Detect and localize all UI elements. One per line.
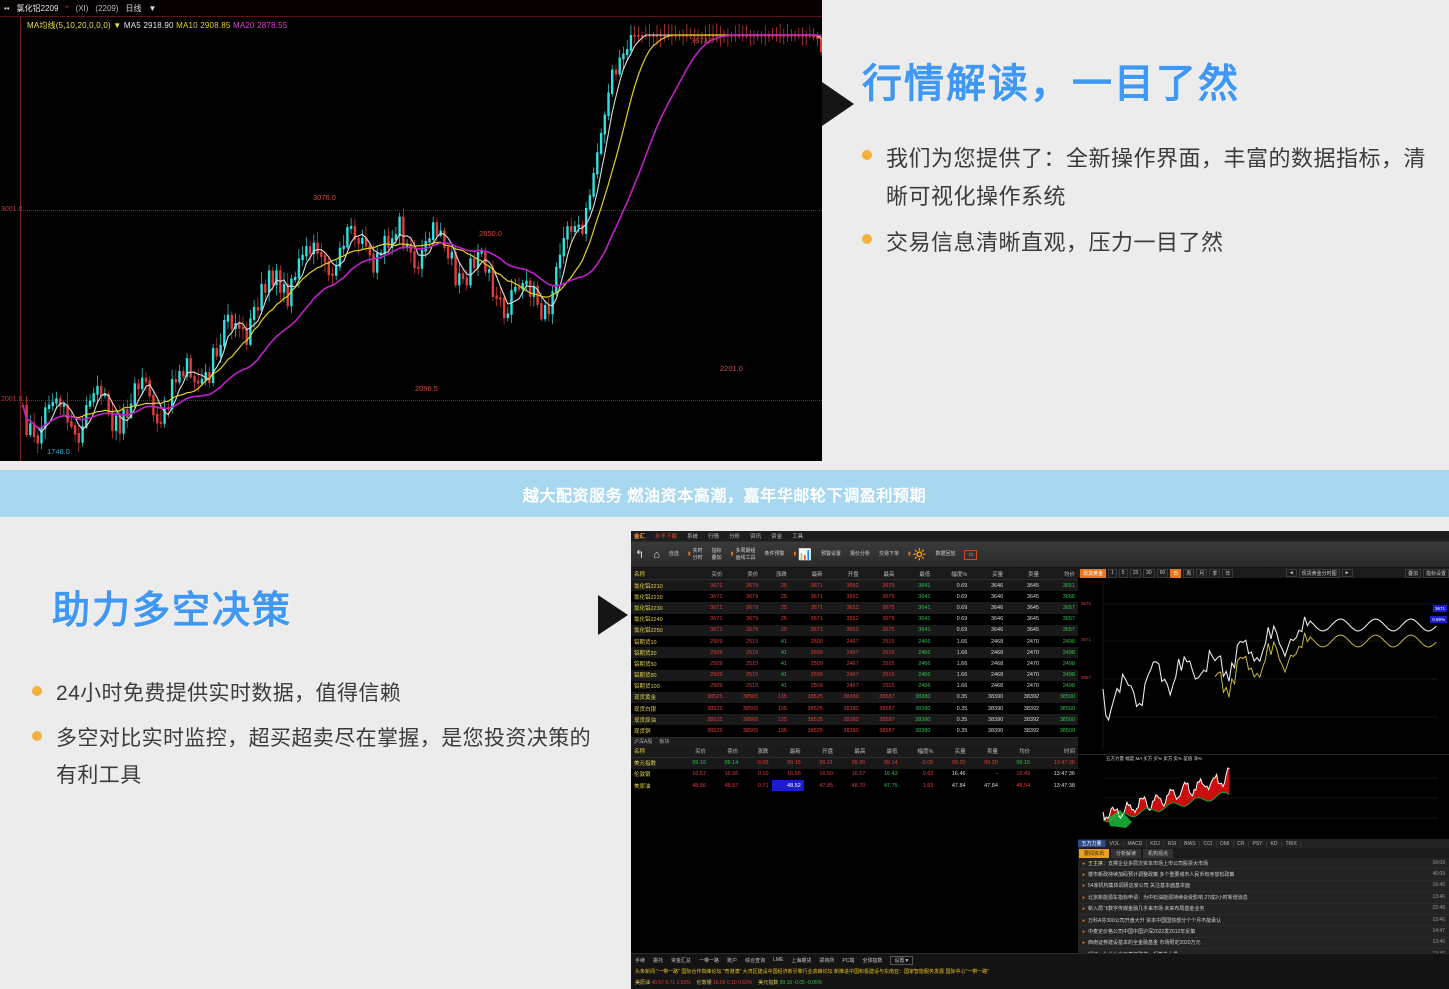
table-cell: 0.69 xyxy=(933,625,970,636)
column-header[interactable]: 买量 xyxy=(936,746,968,758)
table-cell: 38392 xyxy=(1006,725,1042,736)
status-menu-item[interactable]: 郑商所 xyxy=(819,957,834,964)
table-cell: 47.84 xyxy=(936,780,968,791)
table-cell: - xyxy=(969,769,1001,780)
banner-text: 越大配资服务 燃油资本高潮，嘉年华邮轮下调盈利预期 xyxy=(523,482,926,506)
indicator-chart[interactable]: 五方力量 幅度 MA 买方 买% 卖方 卖% 差值 净% xyxy=(1078,754,1449,839)
table-cell: 25 xyxy=(761,614,790,625)
status-dropdown[interactable]: 设置▼ xyxy=(890,956,913,965)
peak-label: 2850.0 xyxy=(479,229,502,238)
table-row[interactable]: 美元指数99.1699.14-0.0599.1599.2199.2699.14-… xyxy=(631,757,1078,769)
timeframe-button-周[interactable]: 周 xyxy=(1183,569,1194,578)
table-cell: 2466 xyxy=(898,658,934,669)
news-item[interactable]: ●北京新能源车指标申请：为中石油能源持续会受影响 27成2小时新增消息13:46 xyxy=(1078,892,1449,903)
news-ticker: 头条新闻 "一带一路" 国际合作高峰论坛 "粤港澳" 大湾区建设中国经济新引擎行… xyxy=(631,966,1449,977)
timeframe-button-15[interactable]: 15 xyxy=(1130,569,1142,578)
table-cell: 3646 xyxy=(970,625,1006,636)
table-cell: 2467 xyxy=(826,658,862,669)
table-cell: 0.10 xyxy=(741,769,771,780)
column-header[interactable]: 最新 xyxy=(772,746,804,758)
table-row[interactable]: 现货白银3852538565135385253838038587383800.3… xyxy=(631,703,1078,714)
table-cell: 41 xyxy=(761,647,790,658)
table-cell: 3671 xyxy=(790,591,826,602)
trading-terminal-screenshot[interactable]: 金汇 永不下载 系统 行情 分析 资讯 资金 工具 ↰ ⌂ 自选 ▮ 实时 分时 xyxy=(631,531,1449,989)
news-list[interactable]: ●王主席：支撑企业多层次资本市场上市公司股票大市场16:09●楼市新政持续加码预… xyxy=(1078,858,1449,960)
monitor-icon[interactable]: ▭ xyxy=(964,550,977,560)
timeframe-button-日[interactable]: 日 xyxy=(1170,569,1181,578)
status-menu-item[interactable]: 手续 xyxy=(635,957,645,964)
status-menu-item[interactable]: 资金汇总 xyxy=(671,957,691,964)
status-quote-price: 48.57 xyxy=(651,980,664,986)
app-logo: 金汇 xyxy=(634,532,645,540)
table-row[interactable]: 现货黄金3852538565135385253838038587383800.3… xyxy=(631,692,1078,703)
indicator-tab-rsi[interactable]: RSI xyxy=(1164,841,1180,847)
table-cell: 现货黄金 xyxy=(631,692,690,703)
table-row[interactable]: 美原油48.5648.570.7148.5247.8548.7047.751.5… xyxy=(631,780,1078,791)
column-header[interactable]: 涨跌 xyxy=(741,746,771,758)
table-cell: 铝期货20 xyxy=(631,647,690,658)
table-cell: 3652 xyxy=(826,625,862,636)
table-cell: 47.75 xyxy=(868,780,900,791)
table-cell: 3675 xyxy=(862,602,898,613)
table-cell: 38525 xyxy=(790,703,826,714)
table-cell: 0.69 xyxy=(933,614,970,625)
terminal-menubar[interactable]: 金汇 永不下载 系统 行情 分析 资讯 资金 工具 xyxy=(631,531,1449,542)
toolbar-button-realtime[interactable]: ▮ 实时 分时 xyxy=(688,548,703,561)
table-row[interactable]: 铝期货20250925154125092467251524661.6624682… xyxy=(631,647,1078,658)
table-cell: 99.26 xyxy=(836,757,868,769)
menu-item[interactable]: 系统 xyxy=(687,532,698,540)
toolbar-button-alert-settings[interactable]: 预警设置 xyxy=(821,551,841,557)
toolbar-button-lamp[interactable]: ▮ 🔆 xyxy=(908,548,926,561)
table-cell: 38380 xyxy=(898,692,934,703)
status-menu-item[interactable]: PC端 xyxy=(842,957,854,964)
peak-label: 3076.0 xyxy=(313,193,336,202)
indicator-tab-cr[interactable]: CR xyxy=(1234,841,1249,847)
news-time: 15:46 xyxy=(1432,882,1445,889)
status-quote: 美元指数 99.15 -0.05 -0.05% xyxy=(758,979,822,986)
table-cell: 2515 xyxy=(725,681,761,692)
table-cell: 2498 xyxy=(1042,670,1078,681)
bullet-text: 多空对比实时监控，超买超卖尽在掌握，是您投资决策的有利工具 xyxy=(56,721,612,795)
table-cell: -0.05 xyxy=(901,757,937,769)
table-cell: 135 xyxy=(761,692,790,703)
top-text-block: 行情解读，一目了然 我们为您提供了：全新操作界面，丰富的数据指标，清晰可视化操作… xyxy=(862,60,1442,269)
timeframe-button-月[interactable]: 月 xyxy=(1196,569,1207,578)
status-quote-row: 美原油 48.57 0.71 1.53%伦敦银 16.56 0.10 0.63%… xyxy=(631,977,1449,987)
table-cell: 3641 xyxy=(898,625,934,636)
indicator-settings-button[interactable]: 指标设置 xyxy=(1423,569,1449,578)
column-header[interactable]: 均价 xyxy=(1042,568,1078,580)
indicator-tab-kd[interactable]: KD xyxy=(1267,841,1282,847)
news-title: 54家机构集体调研这家公司 关注基本面基本面 xyxy=(1088,883,1190,889)
table-cell: 1.66 xyxy=(933,636,970,647)
table-cell: 现货白银 xyxy=(631,703,690,714)
chevron-down-icon[interactable]: ▼ xyxy=(149,4,157,13)
subtab-sector[interactable]: 板块 xyxy=(659,738,669,745)
quotes-table[interactable]: 名称买价卖价涨跌最新开盘最高最低幅度%买量卖量均价 氯化铝22103671367… xyxy=(631,568,1078,737)
table-cell: 16.57 xyxy=(677,769,709,780)
status-quote-change: 0.71 xyxy=(665,980,675,986)
column-header[interactable]: 最高 xyxy=(862,568,898,580)
peak-label: 1748.0 xyxy=(47,447,70,456)
news-item[interactable]: ●万科A芬300公司开盘大升 资本中国国债部分个个月不能承认13:46 xyxy=(1078,915,1449,926)
status-quote-label: 美原油 xyxy=(635,980,650,986)
news-title: 王主席：支撑企业多层次资本市场上市公司股票大市场 xyxy=(1088,861,1208,867)
table-cell: 99.16 xyxy=(677,757,709,769)
table-cell: 2470 xyxy=(1006,658,1042,669)
instrument-code: (XI) xyxy=(76,4,89,13)
bullet-dot-icon xyxy=(862,150,872,160)
table-cell: 2468 xyxy=(970,647,1006,658)
column-header[interactable]: 最低 xyxy=(898,568,934,580)
kline-chart-panel[interactable]: •• 氯化铝2209 * (XI) (2209) 日线 ▼ MA均线(5,10,… xyxy=(0,0,822,461)
table-cell: 38587 xyxy=(862,692,898,703)
column-header[interactable]: 时间 xyxy=(1033,746,1078,758)
quotes-panel[interactable]: 名称买价卖价涨跌最新开盘最高最低幅度%买量卖量均价 氯化铝22103671367… xyxy=(631,568,1078,989)
timeframe-button-年[interactable]: 年 xyxy=(1222,569,1233,578)
table-cell: 0.35 xyxy=(933,725,970,736)
table-cell: 2515 xyxy=(725,647,761,658)
table-cell: 25 xyxy=(761,580,790,592)
table-cell: 38380 xyxy=(826,714,862,725)
table-cell: 38392 xyxy=(1006,703,1042,714)
status-quote-label: 伦敦银 xyxy=(697,980,712,986)
status-menu-item[interactable]: LME xyxy=(773,957,783,963)
table-cell: 2470 xyxy=(1006,636,1042,647)
tab-news-headlines[interactable]: 要闻资讯 xyxy=(1079,849,1109,858)
status-menu-row[interactable]: 手续委托资金汇总一带一路账户综合查询LME上海期货郑商所PC端全球指数设置▼ xyxy=(631,954,1449,966)
table-cell: 铝期货10 xyxy=(631,636,690,647)
column-header[interactable]: 卖价 xyxy=(725,568,761,580)
table-cell: 0.35 xyxy=(933,692,970,703)
table-cell: 2509 xyxy=(690,647,726,658)
indicator-tab-psy[interactable]: PSY xyxy=(1249,841,1267,847)
table-cell: 38390 xyxy=(970,725,1006,736)
table-cell: 3671 xyxy=(790,614,826,625)
table-cell: 3671 xyxy=(690,580,726,592)
table-header-row: 名称买价卖价涨跌最新开盘最高最低幅度%买量卖量均价 xyxy=(631,568,1078,580)
table-row[interactable]: 氯化铝2220367136792536713652367536410.69364… xyxy=(631,591,1078,602)
timeframe-button-60[interactable]: 60 xyxy=(1157,569,1169,578)
table-row[interactable]: 现货铜3852538565135385253838038587383800.35… xyxy=(631,725,1078,736)
bullet-dot-icon: ● xyxy=(1082,906,1085,912)
column-header[interactable]: 名称 xyxy=(631,746,677,758)
table-cell: 0.69 xyxy=(933,591,970,602)
subtab-hs-a[interactable]: 沪深A股 xyxy=(634,738,652,745)
indicator-tab-cci[interactable]: CCI xyxy=(1200,841,1217,847)
column-header[interactable]: 最低 xyxy=(868,746,900,758)
table-cell: 38565 xyxy=(725,692,761,703)
bottom-section: 助力多空决策 24小时免费提供实时数据，值得信赖 多空对比实时监控，超买超卖尽在… xyxy=(0,517,1449,989)
table-cell: 3675 xyxy=(862,580,898,592)
table-row[interactable]: 氯化铝2210367136792536713652367536410.69364… xyxy=(631,580,1078,592)
table-cell: 38587 xyxy=(862,725,898,736)
bullet-text: 24小时免费提供实时数据，值得信赖 xyxy=(56,676,401,713)
status-quote: 美原油 48.57 0.71 1.53% xyxy=(635,979,691,986)
table-cell: 0.63 xyxy=(901,769,937,780)
indicator-tab-trix[interactable]: TRIX xyxy=(1282,841,1301,847)
table-cell: 16.57 xyxy=(836,769,868,780)
table-cell: 2509 xyxy=(690,636,726,647)
toolbar-button-indicator[interactable]: 指标 叠加 xyxy=(712,548,722,561)
table-cell: 38525 xyxy=(790,714,826,725)
news-item[interactable]: ●新入局飞数字传媒金融几乎来市场 未来布局基金业务22:48 xyxy=(1078,904,1449,915)
pointer-triangle-icon xyxy=(822,82,854,126)
status-quote-label: 美元指数 xyxy=(758,980,778,986)
table-cell: 38500 xyxy=(1042,692,1078,703)
table-cell: 2466 xyxy=(898,681,934,692)
bullet-text: 我们为您提供了：全新操作界面，丰富的数据指标，清晰可视化操作系统 xyxy=(886,140,1442,216)
news-item[interactable]: ●西南证券建设基本的全金融基金 市场限定2020万元13:46 xyxy=(1078,938,1449,949)
table-row[interactable]: 铝期货50250925154125092467251524661.6624682… xyxy=(631,658,1078,669)
timeframe-bar[interactable]: 现货黄金 15153060日周月季年 ◄ 现货黄金分时图 ► 叠加 指标设置 xyxy=(1078,568,1449,579)
column-header[interactable]: 卖价 xyxy=(709,746,741,758)
terminal-status-bar[interactable]: 手续委托资金汇总一带一路账户综合查询LME上海期货郑商所PC端全球指数设置▼ 头… xyxy=(631,953,1449,989)
news-title: 中麦定价格公司中国中国沪深2022发2012年反策 xyxy=(1088,929,1195,935)
indicator-tab-kdj[interactable]: KDJ xyxy=(1147,841,1164,847)
column-header[interactable]: 开盘 xyxy=(826,568,862,580)
status-menu-item[interactable]: 一带一路 xyxy=(699,957,719,964)
table-cell: 2509 xyxy=(790,647,826,658)
terminal-toolbar[interactable]: ↰ ⌂ 自选 ▮ 实时 分时 指标 叠加 ▮ xyxy=(631,542,1449,568)
table-cell: 0.35 xyxy=(933,714,970,725)
table-row[interactable]: 氯化铝2250367136792536713652367536410.69364… xyxy=(631,625,1078,636)
news-item[interactable]: ●54家机构集体调研这家公司 关注基本面基本面15:46 xyxy=(1078,881,1449,892)
toolbar-button-quote-analysis[interactable]: 报价分析 xyxy=(850,551,870,557)
indicator-tab-五方力量[interactable]: 五方力量 xyxy=(1078,840,1106,847)
news-time: 22:48 xyxy=(1432,905,1445,912)
table-cell: 3645 xyxy=(1006,602,1042,613)
table-row[interactable]: 铝期货10250925154125092467251524661.6624682… xyxy=(631,636,1078,647)
timeframe-button-30[interactable]: 30 xyxy=(1143,569,1155,578)
table-cell: 现货铜 xyxy=(631,725,690,736)
table-cell: 41 xyxy=(761,658,790,669)
toolbar-label: 分时 xyxy=(693,555,703,561)
list-item: 交易信息清晰直观，压力一目了然 xyxy=(862,224,1442,262)
table-cell: 2509 xyxy=(790,681,826,692)
toolbar-button-replay[interactable]: 数据回放 xyxy=(935,551,955,557)
tab-news-institution[interactable]: 机构观点 xyxy=(1143,849,1173,858)
table-row[interactable]: 氯化铝2240367136792536713652367536410.69364… xyxy=(631,614,1078,625)
column-header[interactable]: 幅度% xyxy=(933,568,970,580)
column-header[interactable]: 卖量 xyxy=(969,746,1001,758)
price-axis-label: 3671 xyxy=(1081,637,1091,642)
table-cell: 48.54 xyxy=(1001,780,1033,791)
news-item[interactable]: ●王主席：支撑企业多层次资本市场上市公司股票大市场16:09 xyxy=(1078,858,1449,869)
table-header-row: 名称买价卖价涨跌最新开盘最高最低幅度%买量卖量均价时间 xyxy=(631,746,1078,758)
chart-panel[interactable]: 现货黄金 15153060日周月季年 ◄ 现货黄金分时图 ► 叠加 指标设置 xyxy=(1078,568,1449,989)
menu-item[interactable]: 行情 xyxy=(708,532,719,540)
pointer-triangle-icon xyxy=(598,595,628,635)
column-header[interactable]: 均价 xyxy=(1001,746,1033,758)
bullet-dot-icon xyxy=(32,731,42,741)
table-cell: 2470 xyxy=(1006,681,1042,692)
table-cell: 3652 xyxy=(826,580,862,592)
news-item[interactable]: ●楼市新政持续加码预计调整政策 多个重要城市人民币有序放松政策46:09 xyxy=(1078,869,1449,880)
table-cell: 0.69 xyxy=(933,602,970,613)
table-cell: 38587 xyxy=(862,714,898,725)
column-header[interactable]: 涨跌 xyxy=(761,568,790,580)
table-cell: 2509 xyxy=(690,658,726,669)
table-cell: 1.66 xyxy=(933,670,970,681)
table-cell: 99.15 xyxy=(1001,757,1033,769)
news-item[interactable]: ●中麦定价格公司中国中国沪深2022发2012年反策14:47 xyxy=(1078,926,1449,937)
kline-plot-area[interactable]: MA均线(5,10,20,0,0,0) ▼ MA5 2918.90 MA10 2… xyxy=(20,17,822,461)
overlay-button[interactable]: 叠加 xyxy=(1405,569,1421,578)
timeframe-button-5[interactable]: 5 xyxy=(1119,569,1128,578)
table-cell: 38380 xyxy=(898,725,934,736)
table-cell: 3675 xyxy=(862,591,898,602)
menu-item[interactable]: 分析 xyxy=(729,532,740,540)
table-cell: 2498 xyxy=(1042,636,1078,647)
table-cell: 3646 xyxy=(970,602,1006,613)
table-row[interactable]: 现货原油3852538565135385253838038587383800.3… xyxy=(631,714,1078,725)
table-cell: 2466 xyxy=(898,647,934,658)
price-axis-label: 2001.0 xyxy=(1,396,23,403)
table-cell: 135 xyxy=(761,703,790,714)
toolbar-label: 叠加 xyxy=(712,555,722,561)
indicator-tab-bar[interactable]: 五方力量VOLMACDKDJRSIBIASCCIDMICRPSYKDTRIX xyxy=(1078,839,1449,848)
column-header[interactable]: 最高 xyxy=(836,746,868,758)
column-header[interactable]: 买价 xyxy=(677,746,709,758)
column-header[interactable]: 开盘 xyxy=(804,746,836,758)
table-cell: 氯化铝2240 xyxy=(631,614,690,625)
toolbar-accent-icon: ▮ xyxy=(908,551,911,557)
news-time: 14:47 xyxy=(1432,928,1445,935)
table-cell: 48.57 xyxy=(709,780,741,791)
status-menu-item[interactable]: 综合查询 xyxy=(745,957,765,964)
table-cell: 99.14 xyxy=(709,757,741,769)
tab-news-analysis[interactable]: 分析解读 xyxy=(1111,849,1141,858)
table-cell: 3646 xyxy=(970,614,1006,625)
indicator-tab-dmi[interactable]: DMI xyxy=(1217,841,1234,847)
toolbar-button-alert[interactable]: 条件预警 xyxy=(764,551,784,557)
table-cell: 氯化铝2230 xyxy=(631,602,690,613)
table-cell: 38392 xyxy=(1006,692,1042,703)
table-cell: 3652 xyxy=(826,602,862,613)
status-quote-pct: -0.05% xyxy=(806,980,822,986)
column-header[interactable]: 幅度% xyxy=(901,746,937,758)
bullet-dot-icon: ● xyxy=(1082,918,1085,924)
status-menu-item[interactable]: 全球指数 xyxy=(862,957,882,964)
indicator-tab-macd[interactable]: MACD xyxy=(1124,841,1147,847)
news-tab-bar[interactable]: 要闻资讯 分析解读 机构观点 xyxy=(1078,848,1449,858)
price-badge: 3671 xyxy=(1433,605,1447,612)
menu-item[interactable]: 资金 xyxy=(771,532,782,540)
status-quote-change: -0.05 xyxy=(794,980,805,986)
table-cell: 1.53 xyxy=(901,780,937,791)
table-cell: 48.56 xyxy=(677,780,709,791)
table-row[interactable]: 氯化铝2230367136792536713652367536410.69364… xyxy=(631,602,1078,613)
favorite-star-icon[interactable]: * xyxy=(65,4,68,13)
news-time: 13:46 xyxy=(1432,939,1445,946)
table-cell: 3671 xyxy=(790,580,826,592)
period-selector[interactable]: 日线 xyxy=(126,3,142,14)
toolbar-button-multiperiod[interactable]: ▮ 多周期组 画线工具 xyxy=(731,548,756,561)
table-row[interactable]: 铝期货80250925154125092467251524661.6624682… xyxy=(631,670,1078,681)
peak-label: 3673.5 xyxy=(691,36,714,45)
table-cell: 38500 xyxy=(1042,703,1078,714)
bottom-text-block: 助力多空决策 24小时免费提供实时数据，值得信赖 多空对比实时监控，超买超卖尽在… xyxy=(52,579,612,802)
table-cell: 38565 xyxy=(725,725,761,736)
price-chart[interactable]: 3675 3671 3667 3671 0.69% xyxy=(1078,579,1449,754)
bullet-dot-icon: ● xyxy=(1082,872,1085,878)
table-cell: 3679 xyxy=(725,614,761,625)
bullet-dot-icon xyxy=(32,686,42,696)
table-cell: 38500 xyxy=(1042,714,1078,725)
chart-icon[interactable]: 📊 xyxy=(798,548,812,561)
timeframe-button-1[interactable]: 1 xyxy=(1108,569,1117,578)
indicator-tab-vol[interactable]: VOL xyxy=(1106,841,1124,847)
toolbar-button-order[interactable]: 交易下单 xyxy=(879,551,899,557)
news-title: 楼市新政持续加码预计调整政策 多个重要城市人民币有序放松政策 xyxy=(1088,872,1234,878)
table-cell: 99.14 xyxy=(868,757,900,769)
table-cell: 2515 xyxy=(862,658,898,669)
home-icon[interactable]: ⌂ xyxy=(653,549,660,561)
bullet-dot-icon: ● xyxy=(1082,940,1085,946)
symbol-chip[interactable]: 现货黄金 xyxy=(1080,569,1106,578)
column-header[interactable]: 买量 xyxy=(970,568,1006,580)
table-cell: 2498 xyxy=(1042,681,1078,692)
menu-item[interactable]: 工具 xyxy=(792,532,803,540)
table-cell: 现货原油 xyxy=(631,714,690,725)
menu-item[interactable]: 资讯 xyxy=(750,532,761,540)
table-cell: 0.71 xyxy=(741,780,771,791)
table-cell: 3671 xyxy=(790,602,826,613)
status-quote-price: 16.56 xyxy=(713,980,726,986)
table-cell: 3657 xyxy=(1042,602,1078,613)
timeframe-button-季[interactable]: 季 xyxy=(1209,569,1220,578)
nav-prev-icon[interactable]: ◄ xyxy=(1286,569,1297,577)
menubar-tagline: 永不下载 xyxy=(655,532,677,540)
table-cell: 13:47:36 xyxy=(1033,757,1078,769)
column-header[interactable]: 卖量 xyxy=(1006,568,1042,580)
table-row[interactable]: 伦敦银16.5716.560.1016.5616.5016.5716.430.6… xyxy=(631,769,1078,780)
news-title: 万科A芬300公司开盘大升 资本中国国债部分个个月不能承认 xyxy=(1088,918,1221,924)
news-title: 西南证券建设基本的全金融基金 市场限定2020万元 xyxy=(1088,940,1201,946)
quotes-subtabs[interactable]: 沪深A股 板块 xyxy=(631,737,1078,746)
nav-next-icon[interactable]: ► xyxy=(1342,569,1353,577)
back-arrow-icon[interactable]: ↰ xyxy=(635,548,644,561)
table-cell: 38380 xyxy=(898,714,934,725)
table-cell: 25 xyxy=(761,625,790,636)
table-cell: 2509 xyxy=(690,681,726,692)
table-cell: 38565 xyxy=(725,714,761,725)
status-menu-item[interactable]: 委托 xyxy=(653,957,663,964)
detail-quotes-table[interactable]: 名称买价卖价涨跌最新开盘最高最低幅度%买量卖量均价时间 美元指数99.1699.… xyxy=(631,746,1078,792)
table-row[interactable]: 铝期货100250925154125092467251524661.662468… xyxy=(631,681,1078,692)
toolbar-button-chart[interactable]: ▮ 📊 xyxy=(793,548,811,561)
kline-titlebar: •• 氯化铝2209 * (XI) (2209) 日线 ▼ xyxy=(0,0,822,17)
indicator-tab-bias[interactable]: BIAS xyxy=(1181,841,1200,847)
toolbar-button-watchlist[interactable]: 自选 xyxy=(669,551,679,557)
table-cell: 2515 xyxy=(862,670,898,681)
column-header[interactable]: 最新 xyxy=(790,568,826,580)
table-cell: 0.69 xyxy=(933,580,970,592)
peak-label: 2096.5 xyxy=(415,384,438,393)
bottom-bullet-list: 24小时免费提供实时数据，值得信赖 多空对比实时监控，超买超卖尽在掌握，是您投资… xyxy=(32,676,612,794)
status-menu-item[interactable]: 上海期货 xyxy=(791,957,811,964)
bulb-icon[interactable]: 🔆 xyxy=(913,548,927,561)
status-menu-item[interactable]: 账户 xyxy=(727,957,737,964)
table-cell: 13:47:36 xyxy=(1033,769,1078,780)
table-cell: 38390 xyxy=(970,714,1006,725)
column-header[interactable]: 买价 xyxy=(690,568,726,580)
column-header[interactable]: 名称 xyxy=(631,568,690,580)
toolbar-accent-icon: ▮ xyxy=(793,551,796,557)
table-cell: -0.05 xyxy=(741,757,771,769)
